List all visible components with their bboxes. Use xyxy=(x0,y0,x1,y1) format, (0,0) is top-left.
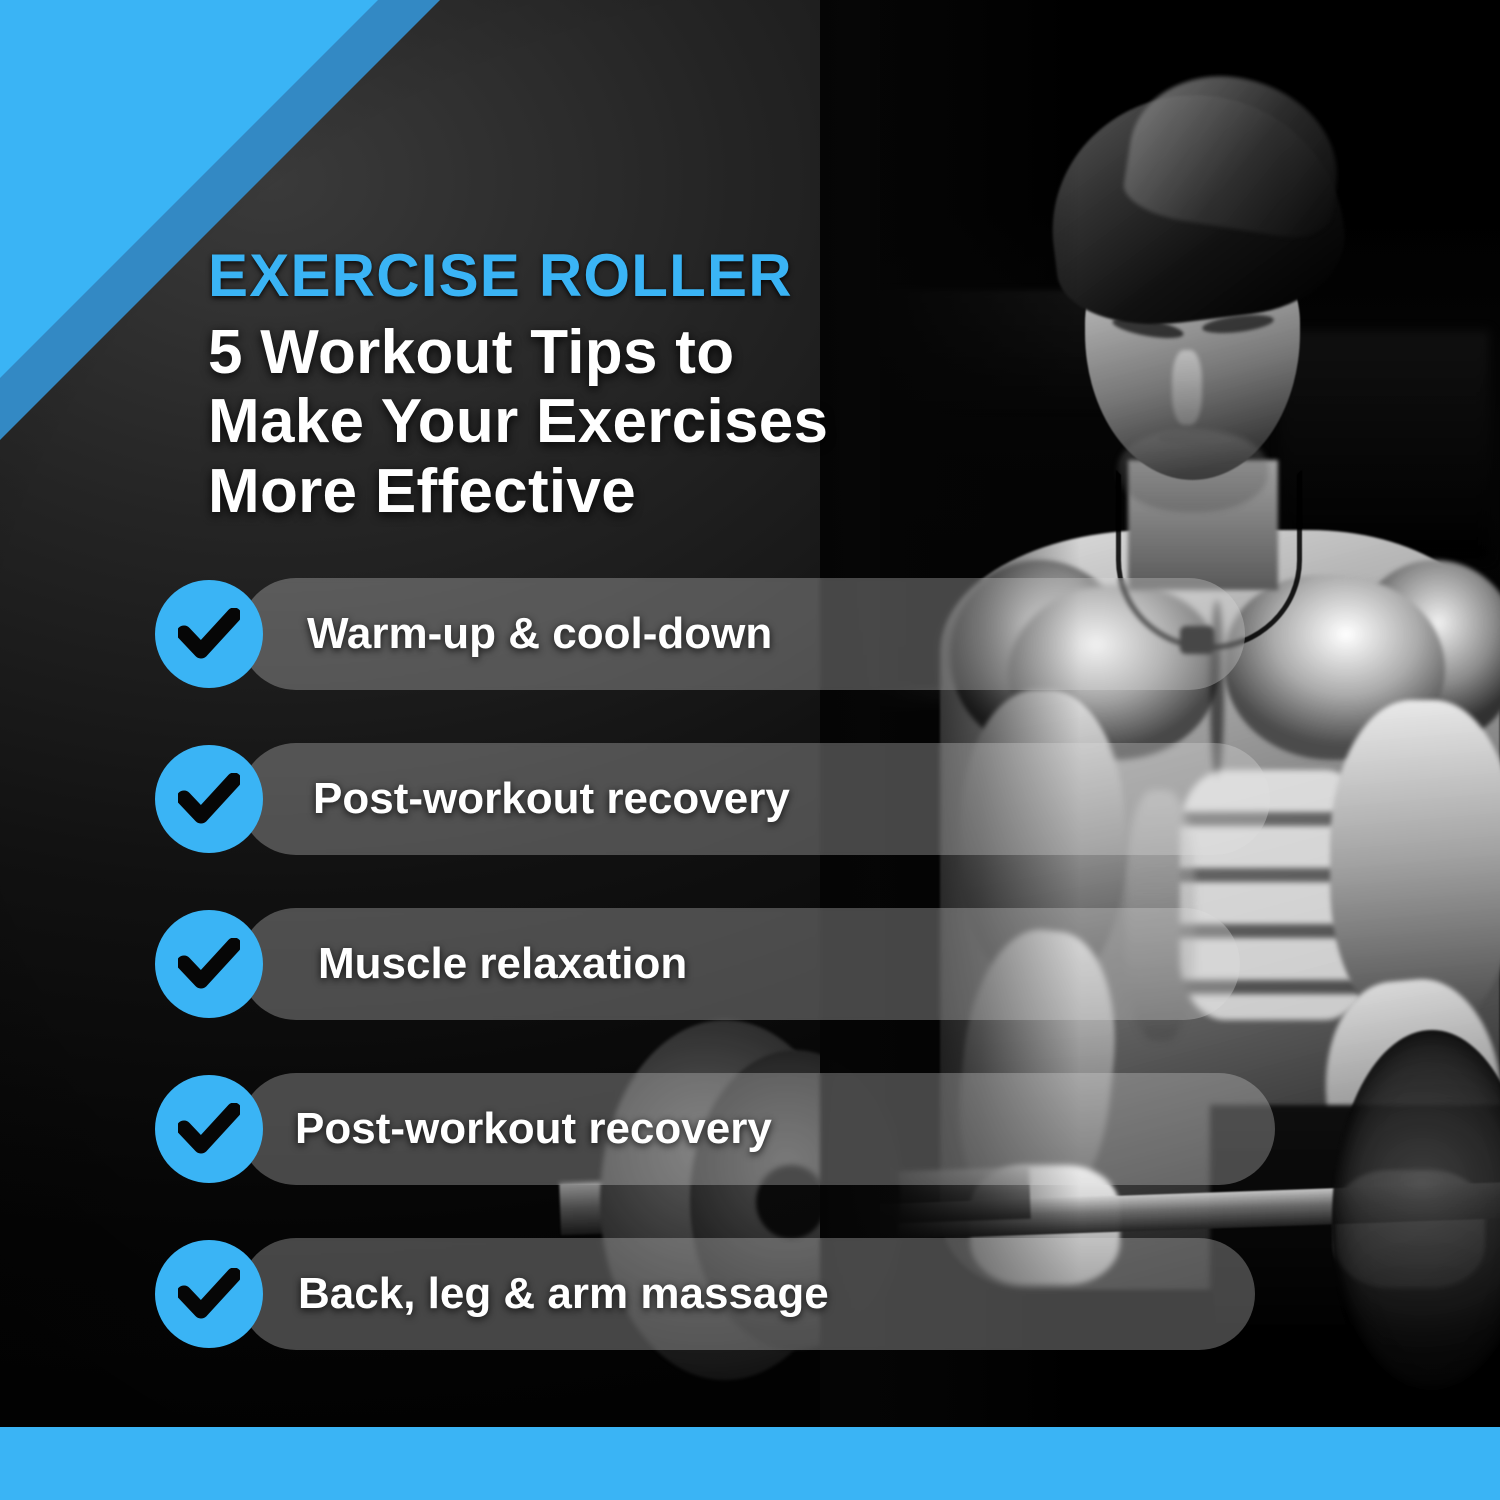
page-title: 5 Workout Tips to Make Your Exercises Mo… xyxy=(208,318,1008,526)
heading-block: EXERCISE ROLLER 5 Workout Tips to Make Y… xyxy=(208,246,1008,526)
check-icon xyxy=(155,1240,263,1348)
check-icon xyxy=(155,745,263,853)
check-icon xyxy=(155,1075,263,1183)
footer-bar xyxy=(0,1427,1500,1500)
gym-rack xyxy=(1280,330,1490,560)
infographic-poster: EXERCISE ROLLER 5 Workout Tips to Make Y… xyxy=(0,0,1500,1500)
checklist-row-label: Muscle relaxation xyxy=(318,908,687,1020)
checklist-row[interactable]: Post-workout recovery xyxy=(155,1073,1245,1185)
check-icon xyxy=(155,910,263,1018)
athlete-nose xyxy=(1172,350,1202,425)
checklist-row-label: Post-workout recovery xyxy=(313,743,790,855)
checklist-row[interactable]: Muscle relaxation xyxy=(155,908,1245,1020)
checklist-row[interactable]: Back, leg & arm massage xyxy=(155,1238,1245,1350)
checklist-row[interactable]: Warm-up & cool-down xyxy=(155,578,1245,690)
checklist-row-label: Back, leg & arm massage xyxy=(298,1238,829,1350)
checklist: Warm-up & cool-downPost-workout recovery… xyxy=(155,578,1245,1403)
title-line-2: Make Your Exercises xyxy=(208,387,1008,456)
title-line-3: More Effective xyxy=(208,457,1008,526)
checklist-row-label: Warm-up & cool-down xyxy=(307,578,772,690)
checklist-row-label: Post-workout recovery xyxy=(295,1073,772,1185)
brand-eyebrow: EXERCISE ROLLER xyxy=(208,246,1008,306)
title-line-1: 5 Workout Tips to xyxy=(208,318,1008,387)
check-icon xyxy=(155,580,263,688)
checklist-row[interactable]: Post-workout recovery xyxy=(155,743,1245,855)
